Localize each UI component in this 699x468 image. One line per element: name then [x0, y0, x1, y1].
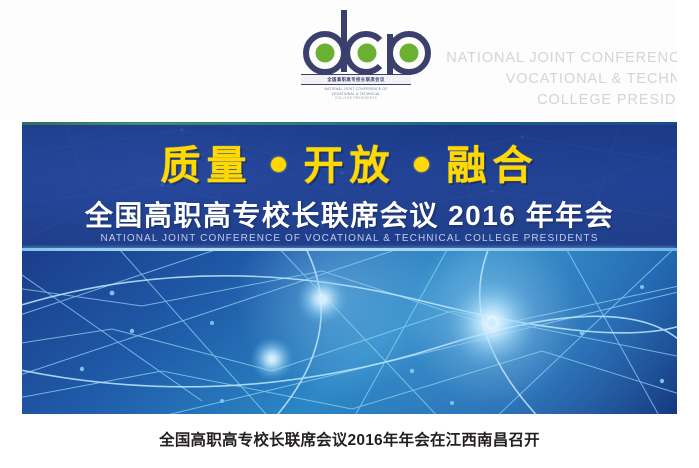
- network-mesh-illustration: [22, 251, 677, 414]
- headline-word-2: 开放: [304, 144, 396, 188]
- logo-subtext-cn: 全国高职高专校长联席会议: [301, 74, 411, 85]
- logo-subtext: 全国高职高专校长联席会议 NATIONAL JOINT CONFERENCE O…: [301, 74, 411, 108]
- banner-subtitle-cn: 全国高职高专校长联席会议 2016 年年会: [22, 200, 677, 232]
- page-root: 全国高职高专校长联席会议 NATIONAL JOINT CONFERENCE O…: [0, 0, 699, 468]
- header-english-line-1: NATIONAL JOINT CONFERENCE O: [440, 48, 699, 69]
- dcp-wordmark-icon: [299, 8, 434, 82]
- header-english-title: NATIONAL JOINT CONFERENCE O VOCATIONAL &…: [440, 48, 699, 111]
- dcp-logo: 全国高职高专校长联席会议 NATIONAL JOINT CONFERENCE O…: [299, 8, 434, 108]
- logo-subtext-en: NATIONAL JOINT CONFERENCE OF VOCATIONAL …: [301, 87, 411, 101]
- header-english-line-2: VOCATIONAL & TECHNICA: [440, 69, 699, 90]
- logo-subtext-en-line3: COLLEGE PRESIDENTS: [301, 96, 411, 101]
- page-header: 全国高职高专校长联席会议 NATIONAL JOINT CONFERENCE O…: [0, 0, 699, 120]
- headline-word-1: 质量: [161, 144, 253, 188]
- banner-network-graphic: [22, 251, 677, 414]
- headline-dot-separator-2: [414, 157, 429, 172]
- right-margin-mask: [677, 0, 699, 468]
- banner-subtitle-en: NATIONAL JOINT CONFERENCE OF VOCATIONAL …: [22, 232, 677, 245]
- banner-headline: 质量开放融合: [22, 144, 677, 188]
- headline-word-3: 融合: [447, 144, 539, 188]
- caption-bar: 全国高职高专校长联席会议2016年年会在江西南昌召开 e: [0, 414, 699, 468]
- caption-text: 全国高职高专校长联席会议2016年年会在江西南昌召开: [0, 430, 699, 452]
- conference-banner: 质量开放融合 全国高职高专校长联席会议 2016 年年会 NATIONAL JO…: [22, 122, 677, 414]
- headline-dot-separator-1: [271, 157, 286, 172]
- header-english-line-3: COLLEGE PRESIDENT: [440, 90, 699, 111]
